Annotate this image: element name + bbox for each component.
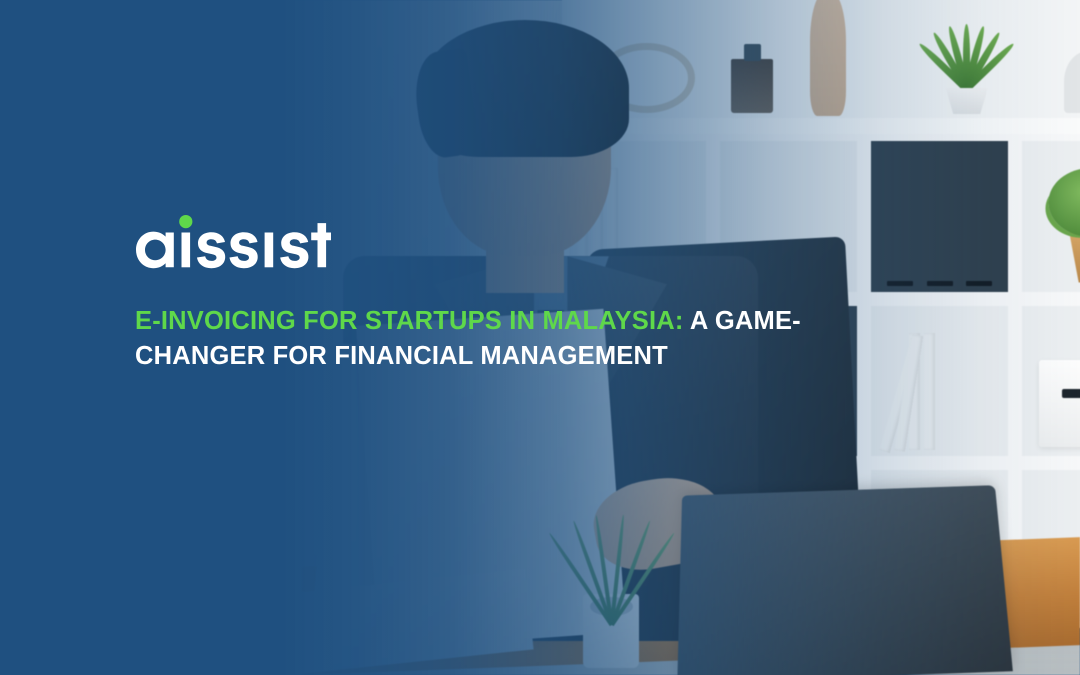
assist-wordmark-icon (135, 212, 331, 276)
page-title: E-INVOICING FOR STARTUPS IN MALAYSIA: A … (135, 304, 883, 374)
banner-content: assist E-INVOICING FOR STARTUPS IN MALAY… (135, 212, 915, 374)
assist-logo: assist (135, 212, 915, 276)
blog-banner: assist E-INVOICING FOR STARTUPS IN MALAY… (0, 0, 1080, 675)
headline-highlight: E-INVOICING FOR STARTUPS IN MALAYSIA: (135, 307, 684, 335)
